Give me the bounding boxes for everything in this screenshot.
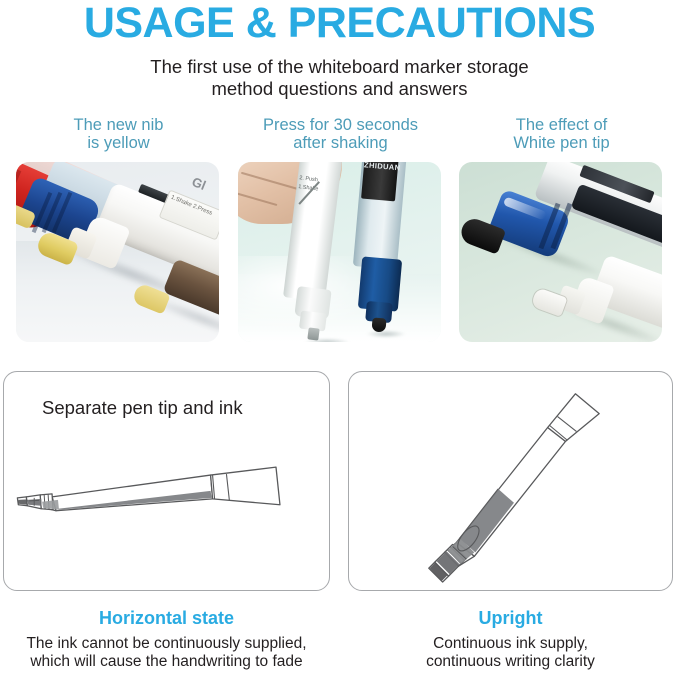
subtitle-line-1: The first use of the whiteboard marker s… bbox=[0, 56, 679, 78]
photo-cell-press-30-seconds: Press for 30 seconds after shaking 2. Pu… bbox=[238, 116, 443, 346]
state-desc-line-2: continuous writing clarity bbox=[348, 653, 673, 672]
state-block-upright: Upright Continuous ink supply, continuou… bbox=[348, 608, 673, 672]
caption-line-1: Press for 30 seconds bbox=[238, 116, 443, 134]
finger-crease bbox=[238, 192, 277, 206]
infographic-page: USAGE & PRECAUTIONS The first use of the… bbox=[0, 0, 679, 676]
contact-shadow bbox=[304, 338, 350, 342]
caption-line-1: The new nib bbox=[16, 116, 221, 134]
photo-cell-new-nib: The new nib is yellow Gl 1.Shake 2.P bbox=[16, 116, 221, 346]
state-block-horizontal: Horizontal state The ink cannot be conti… bbox=[3, 608, 330, 672]
state-desc-line-1: The ink cannot be continuously supplied, bbox=[3, 635, 330, 654]
finger-crease bbox=[241, 172, 299, 190]
pen-rear-cap bbox=[548, 394, 600, 442]
subtitle-line-2: method questions and answers bbox=[0, 78, 679, 100]
state-desc-line-1: Continuous ink supply, bbox=[348, 635, 673, 654]
caption-line-2: after shaking bbox=[238, 134, 443, 152]
caption-line-2: is yellow bbox=[16, 134, 221, 152]
photo-caption-white-pen-tip-effect: The effect of White pen tip bbox=[459, 116, 664, 153]
photo-markers-yellow-nibs: Gl 1.Shake 2.Press bbox=[16, 162, 219, 342]
state-title-upright: Upright bbox=[348, 608, 673, 630]
contact-shadow bbox=[366, 330, 406, 338]
panel-upright-state bbox=[348, 371, 673, 591]
photo-cell-white-pen-tip-effect: The effect of White pen tip bbox=[459, 116, 664, 346]
caption-line-2: White pen tip bbox=[459, 134, 664, 152]
state-desc-upright: Continuous ink supply, continuous writin… bbox=[348, 635, 673, 672]
white-marker-brand-text: Gl bbox=[190, 174, 208, 193]
state-title-horizontal: Horizontal state bbox=[3, 608, 330, 630]
diagram-horizontal-pen bbox=[4, 372, 329, 590]
photo-caption-press-30-seconds: Press for 30 seconds after shaking bbox=[238, 116, 443, 153]
photo-pressing-pens: 2. Push 1.Shake ZHIDUAN bbox=[238, 162, 441, 342]
photo-row: The new nib is yellow Gl 1.Shake 2.P bbox=[0, 116, 679, 346]
caption-line-1: The effect of bbox=[459, 116, 664, 134]
photo-blue-and-white-tips bbox=[459, 162, 662, 342]
state-desc-line-2: which will cause the handwriting to fade bbox=[3, 653, 330, 672]
panel-horizontal-state: Separate pen tip and ink bbox=[3, 371, 330, 591]
pen-barrel bbox=[52, 475, 213, 511]
state-desc-horizontal: The ink cannot be continuously supplied,… bbox=[3, 635, 330, 672]
white-pen-instructions: 2. Push 1.Shake bbox=[292, 174, 333, 238]
page-subtitle: The first use of the whiteboard marker s… bbox=[0, 56, 679, 100]
photo-caption-new-nib: The new nib is yellow bbox=[16, 116, 221, 153]
page-title: USAGE & PRECAUTIONS bbox=[0, 2, 679, 46]
diagram-upright-pen bbox=[349, 372, 672, 590]
